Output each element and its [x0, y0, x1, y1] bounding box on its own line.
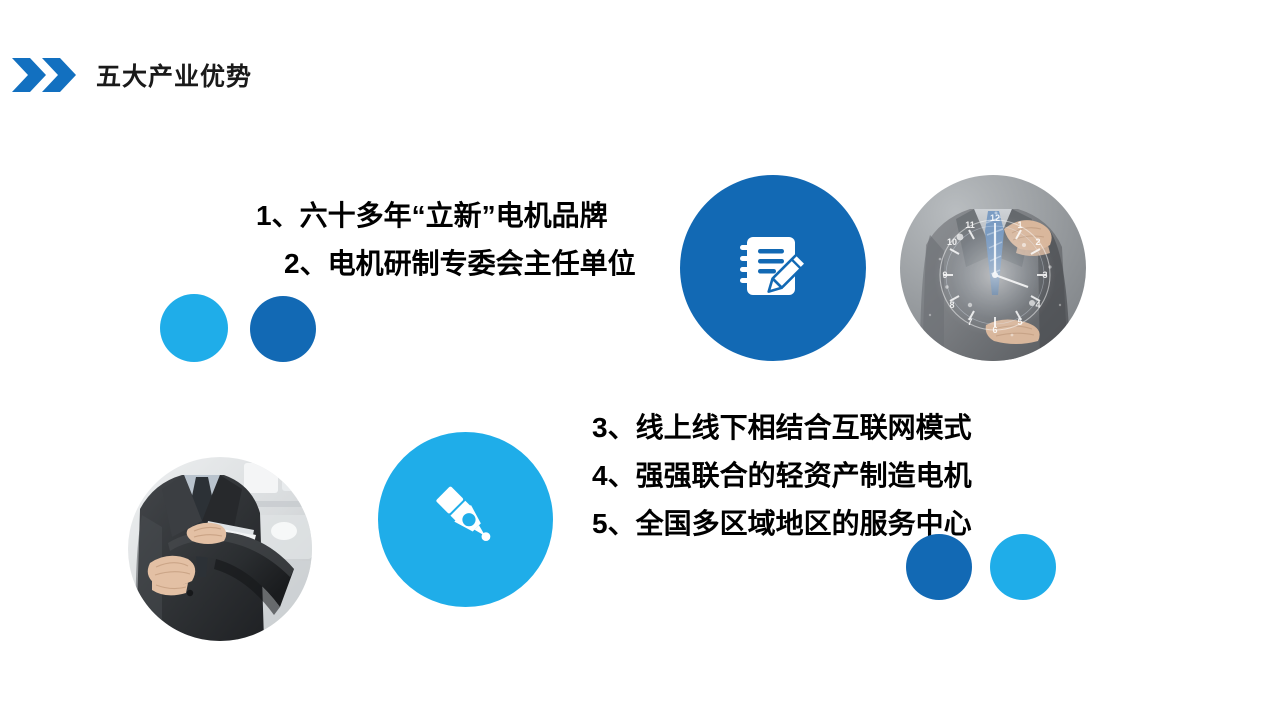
dot-bottom-dark: [906, 534, 972, 600]
advantages-text-group-bottom: 3、线上线下相结合互联网模式 4、强强联合的轻资产制造电机 5、全国多区域地区的…: [592, 404, 972, 548]
businessman-holding-folder-photo: [128, 457, 312, 641]
svg-text:6: 6: [992, 325, 997, 335]
dot-top-dark: [250, 296, 316, 362]
svg-text:4: 4: [1035, 300, 1040, 310]
svg-text:11: 11: [965, 220, 975, 230]
page-title: 五大产业优势: [96, 65, 252, 90]
pen-nib-circle: [378, 432, 553, 607]
svg-text:10: 10: [947, 237, 957, 247]
slide-header: 五大产业优势: [0, 52, 252, 102]
svg-text:9: 9: [942, 270, 947, 280]
dot-bottom-light: [990, 534, 1056, 600]
advantage-line-1: 1、六十多年“立新”电机品牌: [256, 192, 636, 240]
advantage-line-2: 2、电机研制专委会主任单位: [256, 240, 636, 288]
advantage-line-5: 5、全国多区域地区的服务中心: [592, 500, 972, 548]
notepad-pencil-icon: [736, 229, 810, 308]
dot-top-light: [160, 294, 228, 362]
svg-text:12: 12: [990, 213, 1000, 223]
svg-text:8: 8: [949, 300, 954, 310]
advantages-text-group-top: 1、六十多年“立新”电机品牌 2、电机研制专委会主任单位: [256, 192, 636, 288]
slide-canvas: 五大产业优势 1、六十多年“立新”电机品牌 2、电机研制专委会主任单位 3、线上…: [0, 0, 1280, 720]
svg-text:7: 7: [967, 317, 972, 327]
svg-text:3: 3: [1042, 270, 1047, 280]
svg-text:1: 1: [1017, 220, 1022, 230]
notepad-pencil-circle: [680, 175, 866, 361]
svg-text:5: 5: [1017, 317, 1022, 327]
pen-nib-icon: [431, 482, 501, 557]
businessman-holding-clock-photo: 12 1 2 3 4 5 6 7 8 9 10 11: [900, 175, 1086, 361]
advantage-line-4: 4、强强联合的轻资产制造电机: [592, 452, 972, 500]
double-chevron-right-icon: [10, 56, 76, 99]
svg-text:2: 2: [1035, 237, 1040, 247]
advantage-line-3: 3、线上线下相结合互联网模式: [592, 404, 972, 452]
